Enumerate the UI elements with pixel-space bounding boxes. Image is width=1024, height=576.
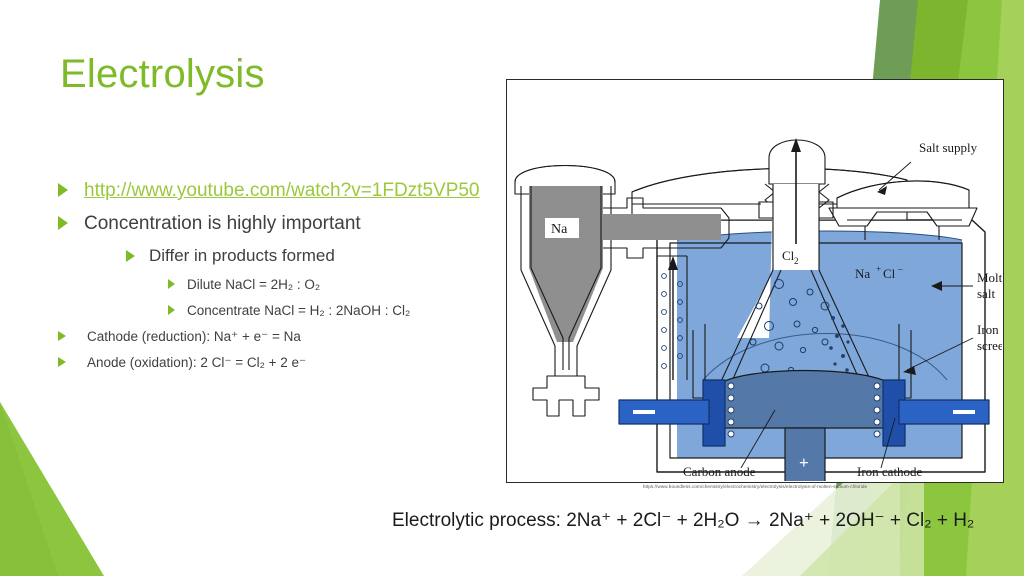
list-item-cathode: Cathode (reduction): Na⁺ + e⁻ = Na [58, 329, 528, 345]
diagram-label-nacl: Na [855, 266, 870, 281]
bullet-marker-icon [58, 183, 68, 197]
cathode-terminal-right [899, 400, 989, 424]
downs-cell-figure: Na Cl 2 Na + Cl – Salt supply Molten sal… [506, 79, 1004, 483]
cathode-terminal-left [619, 400, 709, 424]
diagram-label-carbon-anode: Carbon anode [683, 464, 756, 479]
downs-cell-diagram: Na Cl 2 Na + Cl – Salt supply Molten sal… [507, 80, 1002, 481]
list-item-label: Cathode (reduction): Na⁺ + e⁻ = Na [87, 329, 301, 345]
list-item-label: Concentration is highly important [84, 213, 361, 235]
bullet-marker-icon [168, 279, 175, 289]
figure-source-caption: https://www.boundless.com/chemistry/elec… [506, 484, 1004, 489]
bullet-marker-icon [58, 357, 66, 367]
diagram-label-iron-screen-1: Iron [977, 322, 999, 337]
diagram-label-cl2: Cl [782, 248, 795, 263]
bullet-list: http://www.youtube.com/watch?v=1FDzt5VP5… [58, 180, 528, 381]
list-item-concentrate-nacl: Concentrate NaCl = H₂ : 2NaOH : Cl₂ [58, 303, 528, 318]
diagram-label-na: Na [551, 222, 568, 237]
diagram-label-cl2-sub: 2 [794, 256, 799, 266]
list-item-label: Anode (oxidation): 2 Cl⁻ = Cl₂ + 2 e⁻ [87, 355, 306, 371]
list-item-differ-products: Differ in products formed [58, 246, 528, 266]
bg-shape-left-wedge-dark [0, 402, 58, 576]
list-item-label: Concentrate NaCl = H₂ : 2NaOH : Cl₂ [187, 303, 410, 318]
diagram-label-iron-screen-2: screen [977, 338, 1002, 353]
electrolytic-process-equation: Electrolytic process: 2Na⁺ + 2Cl⁻ + 2H₂O… [392, 509, 974, 532]
list-item-label: Differ in products formed [149, 246, 335, 266]
bullet-marker-icon [58, 216, 68, 230]
bullet-marker-icon [126, 250, 135, 262]
diagram-label-molten-salt-1: Molten [977, 270, 1002, 285]
diagram-label-nacl-cl: Cl [883, 266, 896, 281]
slide-canvas: Electrolysis http://www.youtube.com/watc… [0, 0, 1024, 576]
list-item-concentration: Concentration is highly important [58, 213, 528, 235]
diagram-label-nacl-sup2: – [897, 264, 903, 274]
diagram-label-salt-supply: Salt supply [919, 140, 978, 155]
list-item-link[interactable]: http://www.youtube.com/watch?v=1FDzt5VP5… [58, 180, 528, 202]
diagram-label-plus: + [799, 453, 809, 472]
list-item-dilute-nacl: Dilute NaCl = 2H₂ : O₂ [58, 277, 528, 292]
bullet-marker-icon [168, 305, 175, 315]
youtube-link[interactable]: http://www.youtube.com/watch?v=1FDzt5VP5… [84, 180, 480, 202]
list-item-label: Dilute NaCl = 2H₂ : O₂ [187, 277, 320, 292]
bullet-marker-icon [58, 331, 66, 341]
page-title: Electrolysis [60, 52, 265, 97]
list-item-anode: Anode (oxidation): 2 Cl⁻ = Cl₂ + 2 e⁻ [58, 355, 528, 371]
bg-shape-left-wedge [0, 402, 104, 576]
diagram-label-molten-salt-2: salt [977, 286, 995, 301]
diagram-label-iron-cathode: Iron cathode [857, 464, 923, 479]
diagram-label-nacl-sup1: + [876, 264, 881, 274]
